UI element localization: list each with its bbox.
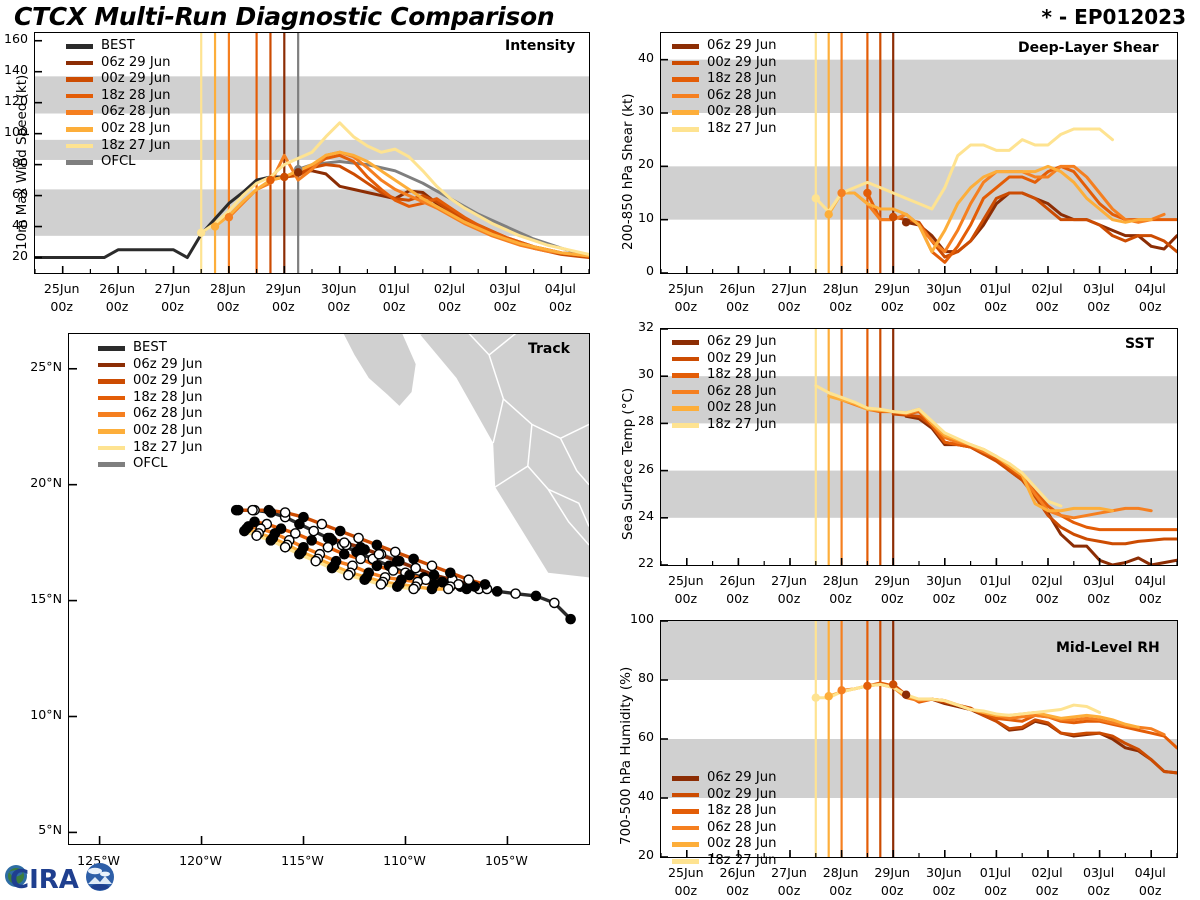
legend-label: 18z 28 Jun bbox=[707, 71, 776, 88]
track-marker-filled bbox=[531, 591, 540, 600]
y-tick-label: 100 bbox=[618, 611, 654, 626]
legend-label: OFCL bbox=[101, 154, 136, 171]
y-tick-label: 24 bbox=[618, 508, 654, 523]
legend-item-06z-29-jun: 06z 29 Jun bbox=[672, 334, 776, 351]
legend-swatch-icon bbox=[98, 363, 125, 368]
legend-item-00z-28-jun: 00z 28 Jun bbox=[672, 104, 776, 121]
page-title: CTCX Multi-Run Diagnostic Comparison bbox=[14, 2, 554, 31]
legend-item-best: BEST bbox=[66, 38, 170, 55]
legend-label: 06z 29 Jun bbox=[133, 357, 202, 374]
track-marker-filled bbox=[232, 506, 241, 515]
legend-label: 06z 28 Jun bbox=[133, 406, 202, 423]
legend-rh: 06z 29 Jun00z 29 Jun18z 28 Jun06z 28 Jun… bbox=[672, 770, 776, 870]
legend-swatch-icon bbox=[672, 859, 699, 864]
lat-tick-label: 25°N bbox=[6, 359, 62, 374]
legend-label: 06z 29 Jun bbox=[101, 55, 170, 72]
legend-swatch-icon bbox=[98, 379, 125, 384]
track-marker-hollow bbox=[356, 554, 365, 563]
lat-tick-label: 10°N bbox=[6, 707, 62, 722]
track-marker-hollow bbox=[427, 561, 436, 570]
legend-label: 18z 28 Jun bbox=[133, 390, 202, 407]
legend-label: 06z 29 Jun bbox=[707, 38, 776, 55]
legend-swatch-icon bbox=[98, 412, 125, 417]
legend-item-18z-28-jun: 18z 28 Jun bbox=[672, 367, 776, 384]
panel-title-track: Track bbox=[528, 341, 570, 357]
y-tick-label: 32 bbox=[618, 319, 654, 334]
legend-swatch-icon bbox=[672, 423, 699, 428]
legend-item-00z-28-jun: 00z 28 Jun bbox=[98, 423, 202, 440]
legend-swatch-icon bbox=[66, 144, 93, 149]
series-start-marker bbox=[197, 229, 205, 237]
y-tick-label: 30 bbox=[618, 366, 654, 381]
legend-shear: 06z 29 Jun00z 29 Jun18z 28 Jun06z 28 Jun… bbox=[672, 38, 776, 138]
legend-swatch-icon bbox=[66, 44, 93, 49]
legend-item-06z-28-jun: 06z 28 Jun bbox=[672, 384, 776, 401]
series-start-marker bbox=[825, 692, 833, 700]
legend-label: 00z 29 Jun bbox=[707, 787, 776, 804]
legend-item-06z-29-jun: 06z 29 Jun bbox=[672, 770, 776, 787]
legend-swatch-icon bbox=[66, 160, 93, 165]
legend-label: 18z 27 Jun bbox=[707, 417, 776, 434]
legend-label: 18z 27 Jun bbox=[707, 121, 776, 138]
legend-item-00z-29-jun: 00z 29 Jun bbox=[66, 71, 170, 88]
legend-label: 18z 28 Jun bbox=[101, 88, 170, 105]
track-marker-hollow bbox=[511, 589, 520, 598]
legend-label: 00z 28 Jun bbox=[707, 104, 776, 121]
storm-id: EP012023 bbox=[1074, 5, 1186, 29]
legend-swatch-icon bbox=[672, 127, 699, 132]
y-tick-label: 10 bbox=[618, 210, 654, 225]
track-marker-filled bbox=[325, 533, 334, 542]
track-marker-hollow bbox=[252, 531, 261, 540]
track-marker-hollow bbox=[317, 519, 326, 528]
legend-item-06z-28-jun: 06z 28 Jun bbox=[672, 820, 776, 837]
y-tick-label: 0 bbox=[618, 263, 654, 278]
track-marker-hollow bbox=[389, 566, 398, 575]
series-line bbox=[816, 684, 1100, 715]
legend-label: 00z 29 Jun bbox=[101, 71, 170, 88]
legend-label: 00z 29 Jun bbox=[707, 351, 776, 368]
legend-item-best: BEST bbox=[98, 340, 202, 357]
series-start-marker bbox=[812, 694, 820, 702]
x-tick-date: 04Jul bbox=[527, 281, 593, 296]
legend-item-00z-29-jun: 00z 29 Jun bbox=[672, 351, 776, 368]
y-tick-label: 40 bbox=[618, 50, 654, 65]
legend-item-06z-28-jun: 06z 28 Jun bbox=[66, 104, 170, 121]
track-marker-filled bbox=[493, 587, 502, 596]
legend-swatch-icon bbox=[98, 446, 125, 451]
track-marker-filled bbox=[462, 584, 471, 593]
legend-swatch-icon bbox=[66, 110, 93, 115]
shaded-band bbox=[661, 471, 1177, 518]
legend-label: 00z 28 Jun bbox=[133, 423, 202, 440]
storm-marker-star: * bbox=[1041, 5, 1051, 29]
y-tick-label: 120 bbox=[0, 93, 28, 108]
axis-label-rh: 700-500 hPa Humidity (%) bbox=[618, 667, 634, 845]
track-marker-hollow bbox=[248, 506, 257, 515]
y-tick-label: 80 bbox=[618, 670, 654, 685]
legend-swatch-icon bbox=[672, 61, 699, 66]
track-marker-filled bbox=[409, 554, 418, 563]
legend-swatch-icon bbox=[66, 127, 93, 132]
series-start-marker bbox=[837, 189, 845, 197]
track-marker-hollow bbox=[354, 533, 363, 542]
legend-swatch-icon bbox=[672, 44, 699, 49]
panel-title-sst: SST bbox=[1125, 336, 1154, 352]
track-marker-filled bbox=[446, 568, 455, 577]
cira-logo: CIRA bbox=[4, 856, 116, 898]
svg-text:CIRA: CIRA bbox=[10, 865, 79, 895]
track-marker-filled bbox=[240, 526, 249, 535]
track-marker-hollow bbox=[344, 570, 353, 579]
legend-swatch-icon bbox=[672, 77, 699, 82]
legend-label: 18z 28 Jun bbox=[707, 367, 776, 384]
lon-tick-label: 120°W bbox=[166, 853, 236, 868]
legend-swatch-icon bbox=[672, 340, 699, 345]
legend-swatch-icon bbox=[66, 61, 93, 66]
track-marker-filled bbox=[327, 564, 336, 573]
y-tick-label: 40 bbox=[0, 217, 28, 232]
legend-item-06z-29-jun: 06z 29 Jun bbox=[66, 55, 170, 72]
track-marker-hollow bbox=[281, 508, 290, 517]
legend-item-18z-27-jun: 18z 27 Jun bbox=[66, 138, 170, 155]
legend-label: 06z 28 Jun bbox=[101, 104, 170, 121]
legend-item-00z-29-jun: 00z 29 Jun bbox=[98, 373, 202, 390]
track-marker-hollow bbox=[391, 547, 400, 556]
series-start-marker bbox=[889, 680, 897, 688]
legend-item-06z-28-jun: 06z 28 Jun bbox=[672, 88, 776, 105]
legend-label: BEST bbox=[101, 38, 135, 55]
y-tick-label: 20 bbox=[0, 248, 28, 263]
legend-swatch-icon bbox=[672, 390, 699, 395]
lat-tick-label: 15°N bbox=[6, 591, 62, 606]
track-marker-filled bbox=[299, 513, 308, 522]
storm-id-label: * - EP012023 bbox=[1041, 5, 1186, 29]
x-tick-hour: 00z bbox=[527, 299, 593, 314]
series-start-marker bbox=[294, 168, 302, 176]
series-start-marker bbox=[902, 218, 910, 226]
x-tick-hour: 00z bbox=[1117, 299, 1183, 314]
series-start-marker bbox=[825, 210, 833, 218]
y-tick-label: 160 bbox=[0, 31, 28, 46]
y-tick-label: 28 bbox=[618, 413, 654, 428]
legend-swatch-icon bbox=[672, 793, 699, 798]
legend-item-18z-27-jun: 18z 27 Jun bbox=[672, 417, 776, 434]
track-marker-filled bbox=[336, 526, 345, 535]
series-start-marker bbox=[837, 686, 845, 694]
track-marker-filled bbox=[393, 557, 402, 566]
legend-item-18z-28-jun: 18z 28 Jun bbox=[672, 803, 776, 820]
y-tick-label: 140 bbox=[0, 62, 28, 77]
track-marker-filled bbox=[307, 536, 316, 545]
legend-item-18z-28-jun: 18z 28 Jun bbox=[66, 88, 170, 105]
y-tick-label: 20 bbox=[618, 847, 654, 862]
legend-label: 06z 28 Jun bbox=[707, 384, 776, 401]
legend-item-00z-29-jun: 00z 29 Jun bbox=[672, 55, 776, 72]
legend-label: OFCL bbox=[133, 456, 168, 473]
series-start-marker bbox=[863, 189, 871, 197]
legend-item-18z-27-jun: 18z 27 Jun bbox=[672, 121, 776, 138]
track-marker-hollow bbox=[323, 543, 332, 552]
legend-item-06z-29-jun: 06z 29 Jun bbox=[672, 38, 776, 55]
series-start-marker bbox=[211, 222, 219, 230]
y-tick-label: 22 bbox=[618, 555, 654, 570]
legend-sst: 06z 29 Jun00z 29 Jun18z 28 Jun06z 28 Jun… bbox=[672, 334, 776, 434]
lon-tick-label: 115°W bbox=[268, 853, 338, 868]
track-marker-hollow bbox=[409, 584, 418, 593]
legend-swatch-icon bbox=[672, 776, 699, 781]
track-marker-filled bbox=[356, 543, 365, 552]
legend-swatch-icon bbox=[672, 826, 699, 831]
legend-item-18z-28-jun: 18z 28 Jun bbox=[672, 71, 776, 88]
track-marker-filled bbox=[360, 575, 369, 584]
legend-item-ofcl: OFCL bbox=[98, 456, 202, 473]
series-start-marker bbox=[902, 691, 910, 699]
panel-title-shear: Deep-Layer Shear bbox=[1018, 40, 1159, 56]
lat-tick-label: 20°N bbox=[6, 475, 62, 490]
legend-track: BEST06z 29 Jun00z 29 Jun18z 28 Jun06z 28… bbox=[98, 340, 202, 473]
legend-label: 18z 28 Jun bbox=[707, 803, 776, 820]
lon-tick-label: 110°W bbox=[369, 853, 439, 868]
track-marker-hollow bbox=[374, 550, 383, 559]
lon-tick-label: 105°W bbox=[471, 853, 541, 868]
track-marker-hollow bbox=[376, 580, 385, 589]
panel-title-intensity: Intensity bbox=[505, 38, 575, 54]
y-tick-label: 20 bbox=[618, 156, 654, 171]
track-marker-filled bbox=[393, 582, 402, 591]
y-tick-label: 80 bbox=[0, 155, 28, 170]
track-marker-filled bbox=[264, 506, 273, 515]
x-tick-date: 04Jul bbox=[1117, 281, 1183, 296]
series-start-marker bbox=[863, 682, 871, 690]
storm-separator: - bbox=[1052, 5, 1074, 29]
x-tick-hour: 00z bbox=[1117, 591, 1183, 606]
series-start-marker bbox=[889, 213, 897, 221]
legend-item-18z-28-jun: 18z 28 Jun bbox=[98, 390, 202, 407]
panel-title-rh: Mid-Level RH bbox=[1056, 640, 1160, 656]
legend-item-ofcl: OFCL bbox=[66, 154, 170, 171]
y-tick-label: 40 bbox=[618, 788, 654, 803]
legend-item-06z-29-jun: 06z 29 Jun bbox=[98, 357, 202, 374]
lat-tick-label: 5°N bbox=[6, 822, 62, 837]
y-tick-label: 60 bbox=[618, 729, 654, 744]
track-marker-filled bbox=[372, 561, 381, 570]
legend-swatch-icon bbox=[672, 842, 699, 847]
x-tick-date: 04Jul bbox=[1117, 573, 1183, 588]
track-marker-filled bbox=[340, 550, 349, 559]
y-tick-label: 26 bbox=[618, 461, 654, 476]
track-marker-filled bbox=[566, 615, 575, 624]
track-marker-hollow bbox=[281, 543, 290, 552]
legend-label: 00z 29 Jun bbox=[133, 373, 202, 390]
legend-label: 06z 28 Jun bbox=[707, 820, 776, 837]
legend-label: 18z 27 Jun bbox=[133, 440, 202, 457]
legend-item-00z-29-jun: 00z 29 Jun bbox=[672, 787, 776, 804]
legend-swatch-icon bbox=[672, 357, 699, 362]
legend-swatch-icon bbox=[672, 94, 699, 99]
x-tick-date: 04Jul bbox=[1117, 865, 1183, 880]
legend-label: 00z 28 Jun bbox=[707, 400, 776, 417]
track-marker-filled bbox=[372, 540, 381, 549]
track-marker-hollow bbox=[340, 538, 349, 547]
legend-item-06z-28-jun: 06z 28 Jun bbox=[98, 406, 202, 423]
track-marker-filled bbox=[427, 584, 436, 593]
legend-label: 00z 28 Jun bbox=[101, 121, 170, 138]
track-marker-hollow bbox=[309, 526, 318, 535]
track-marker-filled bbox=[480, 580, 489, 589]
legend-label: 00z 28 Jun bbox=[707, 836, 776, 853]
legend-intensity: BEST06z 29 Jun00z 29 Jun18z 28 Jun06z 28… bbox=[66, 38, 170, 171]
legend-label: 18z 27 Jun bbox=[101, 138, 170, 155]
x-tick-hour: 00z bbox=[1117, 883, 1183, 898]
legend-item-00z-28-jun: 00z 28 Jun bbox=[672, 400, 776, 417]
track-marker-hollow bbox=[311, 557, 320, 566]
track-marker-hollow bbox=[444, 584, 453, 593]
legend-swatch-icon bbox=[672, 373, 699, 378]
legend-swatch-icon bbox=[98, 396, 125, 401]
legend-label: 06z 29 Jun bbox=[707, 334, 776, 351]
series-start-marker bbox=[266, 176, 274, 184]
legend-swatch-icon bbox=[98, 346, 125, 351]
figure-canvas: CTCX Multi-Run Diagnostic Comparison * -… bbox=[0, 0, 1200, 900]
legend-swatch-icon bbox=[672, 809, 699, 814]
legend-item-00z-28-jun: 00z 28 Jun bbox=[672, 836, 776, 853]
legend-label: 06z 28 Jun bbox=[707, 88, 776, 105]
track-marker-filled bbox=[295, 550, 304, 559]
legend-swatch-icon bbox=[672, 406, 699, 411]
legend-swatch-icon bbox=[66, 94, 93, 99]
legend-label: 00z 29 Jun bbox=[707, 55, 776, 72]
y-tick-label: 100 bbox=[0, 124, 28, 139]
legend-swatch-icon bbox=[66, 77, 93, 82]
track-marker-hollow bbox=[550, 598, 559, 607]
series-start-marker bbox=[225, 213, 233, 221]
y-tick-label: 30 bbox=[618, 103, 654, 118]
y-tick-label: 60 bbox=[0, 186, 28, 201]
legend-item-18z-27-jun: 18z 27 Jun bbox=[98, 440, 202, 457]
legend-label: BEST bbox=[133, 340, 167, 357]
series-start-marker bbox=[280, 173, 288, 181]
legend-item-00z-28-jun: 00z 28 Jun bbox=[66, 121, 170, 138]
track-marker-filled bbox=[266, 536, 275, 545]
legend-swatch-icon bbox=[672, 110, 699, 115]
legend-label: 06z 29 Jun bbox=[707, 770, 776, 787]
legend-swatch-icon bbox=[98, 429, 125, 434]
series-start-marker bbox=[812, 194, 820, 202]
land-baja bbox=[259, 334, 416, 406]
legend-swatch-icon bbox=[98, 462, 125, 467]
